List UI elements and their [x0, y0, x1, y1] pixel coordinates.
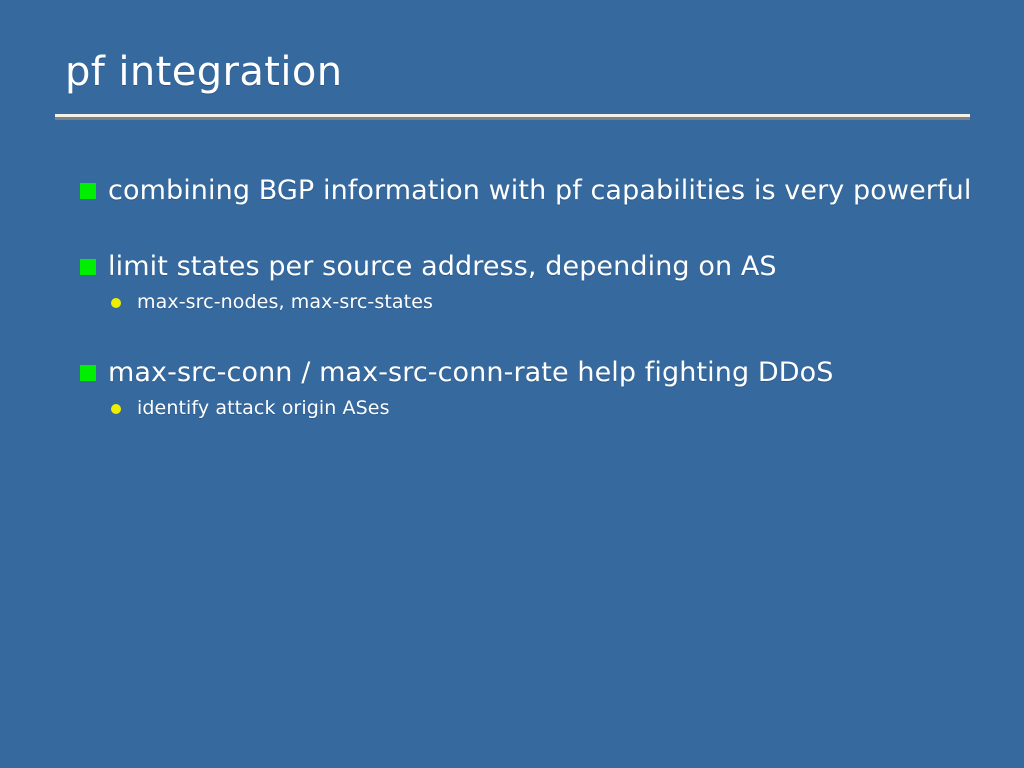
slide-body: combining BGP information with pf capabi…: [75, 172, 975, 422]
title-divider-shadow: [55, 117, 970, 120]
title-divider: [55, 114, 970, 119]
sub-list-item-label: identify attack origin ASes: [137, 397, 390, 419]
list-item: max-src-conn / max-src-conn-rate help fi…: [75, 354, 975, 392]
page-title: pf integration: [55, 48, 970, 96]
list-item-label: max-src-conn / max-src-conn-rate help fi…: [108, 357, 834, 388]
slide-title-block: pf integration: [55, 48, 970, 96]
sub-list-item-label: max-src-nodes, max-src-states: [137, 291, 433, 313]
bullet-group: max-src-conn / max-src-conn-rate help fi…: [75, 354, 975, 422]
sub-list-item: max-src-nodes, max-src-states: [75, 288, 975, 316]
yellow-circle-bullet-icon: [111, 404, 121, 414]
yellow-circle-bullet-icon: [111, 298, 121, 308]
sub-list-item: identify attack origin ASes: [75, 394, 975, 422]
list-item-label: limit states per source address, dependi…: [108, 251, 777, 282]
bullet-group: combining BGP information with pf capabi…: [75, 172, 975, 210]
bullet-group: limit states per source address, dependi…: [75, 248, 975, 316]
green-square-bullet-icon: [80, 259, 96, 275]
sub-list: max-src-nodes, max-src-states: [75, 288, 975, 316]
green-square-bullet-icon: [80, 365, 96, 381]
presentation-slide: pf integration combining BGP information…: [0, 0, 1024, 768]
list-item-label: combining BGP information with pf capabi…: [108, 175, 971, 206]
list-item: limit states per source address, dependi…: [75, 248, 975, 286]
list-item: combining BGP information with pf capabi…: [75, 172, 975, 210]
sub-list: identify attack origin ASes: [75, 394, 975, 422]
green-square-bullet-icon: [80, 183, 96, 199]
